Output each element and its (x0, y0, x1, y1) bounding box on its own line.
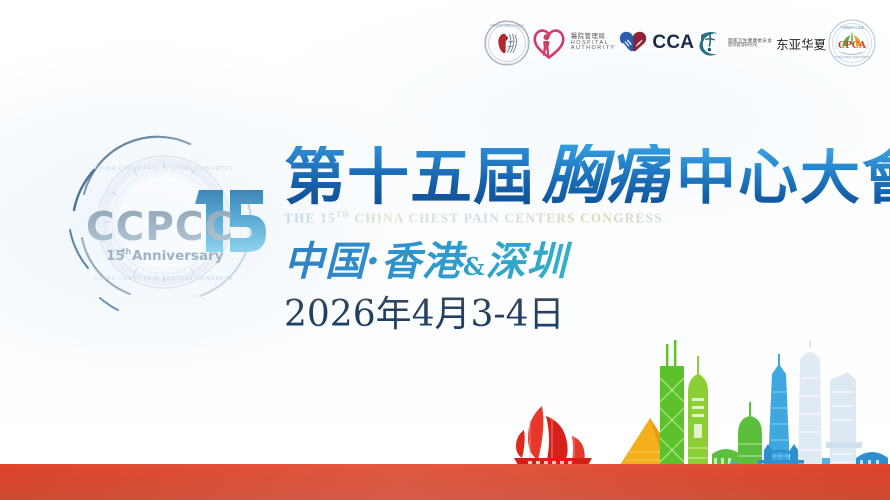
partner-logos-strip: 中国医师协会胸痛专业委员会 (484, 14, 876, 72)
title-part-edition: 第十五屆 (284, 146, 536, 208)
conference-poster: 中国医师协会胸痛专业委员会 (0, 0, 890, 500)
east-china-calligraphy: 东亚华夏 (776, 34, 826, 53)
hospital-authority-text: 醫院管理局 HOSPITAL AUTHORITY (571, 34, 616, 52)
cpca-round-icon: 中国胸痛中心联盟 CPCA CHINA CHEST PAIN CENTER (828, 19, 876, 67)
chinese-main-title: 第十五屆 胸痛 中心大會 (284, 128, 864, 208)
venue-city-secondary: 深圳 (486, 238, 568, 285)
stock-exchange-building (826, 372, 862, 468)
venue-city-primary: 中国·香港 (284, 238, 463, 285)
svg-text:CHINA CHEST PAIN CENTER: CHINA CHEST PAIN CENTER (834, 55, 870, 59)
title-part-chest-pain: 胸痛 (542, 144, 670, 208)
east-china-text: 国家卫生健康委员会 医院管理研究所 东亚华夏 (728, 34, 826, 53)
title-part-center-congress: 中心大會 (676, 148, 890, 208)
ccpcc-emblem: CHINA CHEST PAIN CENTERS CONGRESS CHINA … (48, 118, 280, 323)
swoosh-mark-icon (696, 28, 724, 58)
svg-text:CHINA CHEST PAIN CENTERS CONGR: CHINA CHEST PAIN CENTERS CONGRESS (95, 166, 233, 172)
green-landmark-tower (738, 402, 762, 468)
svg-text:CPCA: CPCA (838, 41, 867, 51)
svg-text:CCPCC: CCPCC (86, 205, 234, 250)
partner-logo-cca[interactable]: CCA (617, 18, 694, 68)
bottom-band-glow (0, 464, 890, 500)
partner-logo-hospital-authority[interactable]: 醫院管理局 HOSPITAL AUTHORITY (532, 18, 616, 68)
partner-logo-east-china[interactable]: 国家卫生健康委员会 医院管理研究所 东亚华夏 (696, 18, 826, 68)
svg-text:th: th (122, 247, 131, 256)
heart-person-icon (532, 26, 566, 60)
bottom-color-band (0, 464, 890, 500)
partner-logo-cpca[interactable]: 中国胸痛中心联盟 CPCA CHINA CHEST PAIN CENTER (828, 18, 876, 68)
english-subtitle-sup: TH (336, 210, 350, 219)
ha-english-line2: AUTHORITY (571, 46, 616, 52)
english-subtitle-prefix: THE 15 (284, 210, 336, 225)
circular-seal-icon: 中国医师协会胸痛专业委员会 (484, 20, 530, 66)
bank-of-china-tower (660, 340, 684, 468)
venue-line: 中国·香港&深圳 (284, 240, 864, 289)
kk100-tower (798, 340, 822, 468)
hsbc-tower (688, 356, 708, 468)
cca-wordmark: CCA (652, 32, 694, 54)
clasped-hands-heart-icon (617, 29, 649, 57)
svg-text:CHINA CHEST PAIN CENTERS CONGR: CHINA CHEST PAIN CENTERS CONGRESS (95, 276, 233, 282)
english-subtitle-rest: CHINA CHEST PAIN CENTERS CONGRESS (350, 210, 663, 225)
skyline-illustration (500, 318, 890, 478)
svg-text:Anniversary: Anniversary (132, 248, 224, 264)
svg-text:中国胸痛中心联盟: 中国胸痛中心联盟 (840, 25, 864, 30)
east-china-small-line2: 医院管理研究所 (728, 43, 772, 48)
venue-ampersand: & (463, 252, 486, 281)
title-block: 第十五屆 胸痛 中心大會 THE 15TH CHINA CHEST PAIN C… (284, 128, 864, 335)
partner-logo-seal[interactable]: 中国医师协会胸痛专业委员会 (484, 18, 530, 68)
junk-boat (514, 406, 592, 472)
